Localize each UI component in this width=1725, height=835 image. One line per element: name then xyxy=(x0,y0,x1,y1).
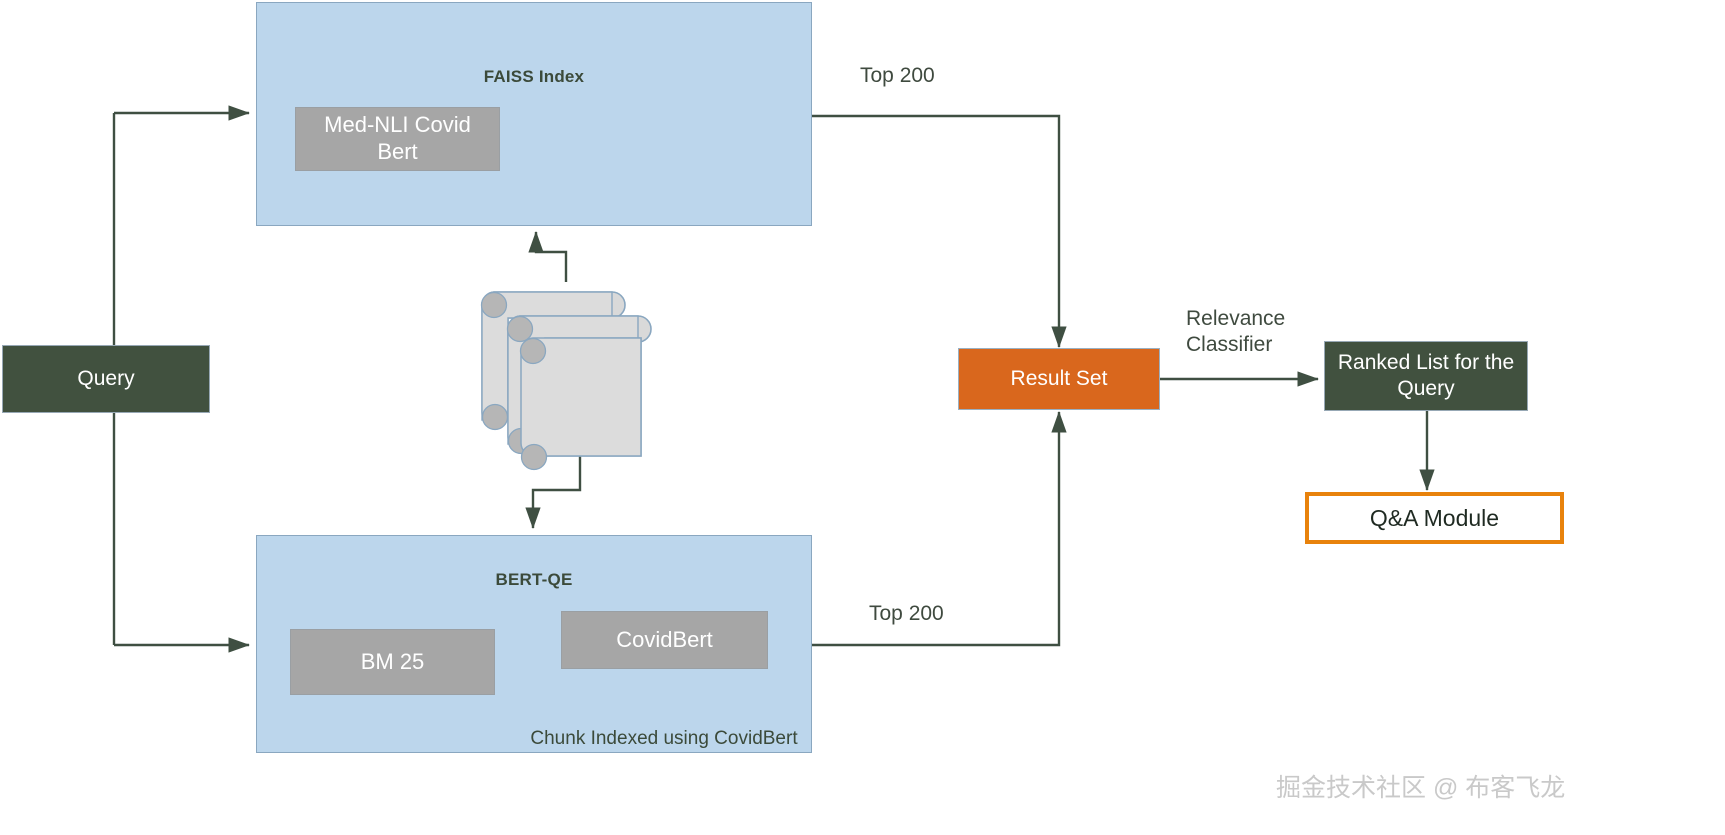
diagram-canvas: Query FAISS Index Med-NLI Covid Bert BER… xyxy=(0,0,1725,835)
bert-qe-title: BERT-QE xyxy=(257,570,811,590)
chunk-index-caption: Chunk Indexed using CovidBert xyxy=(456,728,872,750)
top-200-lower-label: Top 200 xyxy=(869,601,944,627)
relevance-classifier-label: Relevance Classifier xyxy=(1186,306,1336,358)
query-box[interactable]: Query xyxy=(2,345,210,413)
ranked-list-box[interactable]: Ranked List for the Query xyxy=(1324,341,1528,411)
faiss-index-title: FAISS Index xyxy=(257,67,811,87)
qa-module-label: Q&A Module xyxy=(1370,505,1499,532)
result-set-label: Result Set xyxy=(1011,367,1108,391)
top-200-upper-label: Top 200 xyxy=(860,63,935,89)
result-set-box[interactable]: Result Set xyxy=(958,348,1160,410)
query-label: Query xyxy=(77,366,134,392)
ranked-list-label: Ranked List for the Query xyxy=(1333,350,1519,401)
document-stack-shapes xyxy=(482,292,652,470)
qa-module-box[interactable]: Q&A Module xyxy=(1305,492,1564,544)
med-nli-covid-bert-label: Med-NLI Covid Bert xyxy=(306,112,489,166)
bm25-box[interactable]: BM 25 xyxy=(290,629,495,695)
med-nli-covid-bert-box[interactable]: Med-NLI Covid Bert xyxy=(295,107,500,171)
covidbert-label: CovidBert xyxy=(616,627,713,654)
chunk-index-caption-wrap: Chunk Indexed using CovidBert xyxy=(456,728,872,750)
covidbert-box[interactable]: CovidBert xyxy=(561,611,768,669)
watermark: 掘金技术社区 @ 布客飞龙 xyxy=(1276,768,1565,804)
bm25-label: BM 25 xyxy=(361,649,425,676)
